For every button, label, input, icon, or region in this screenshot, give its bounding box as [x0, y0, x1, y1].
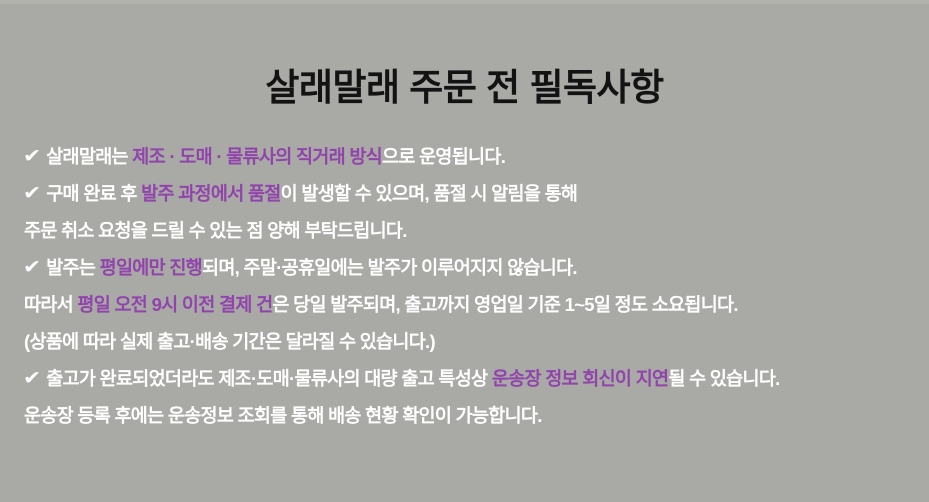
plain-text: 출고가 완료되었더라도 제조·도매·물류사의 대량 출고 특성상 — [46, 368, 492, 389]
check-icon: ✔ — [23, 253, 41, 282]
notice-line: ✔구매 완료 후 발주 과정에서 품절이 발생할 수 있으며, 품절 시 알림을… — [24, 179, 924, 216]
plain-text: 운송장 등록 후에는 운송정보 조회를 통해 배송 현황 확인이 가능합니다. — [24, 405, 542, 426]
plain-text: 되며, 주말·공휴일에는 발주가 이루어지지 않습니다. — [202, 257, 577, 278]
check-icon: ✔ — [23, 364, 41, 393]
plain-text: 구매 완료 후 — [46, 183, 141, 204]
notice-line: 운송장 등록 후에는 운송정보 조회를 통해 배송 현황 확인이 가능합니다. — [24, 401, 924, 438]
plain-text: 살래말래는 — [46, 146, 132, 167]
check-icon: ✔ — [23, 142, 41, 171]
notice-line: ✔발주는 평일에만 진행되며, 주말·공휴일에는 발주가 이루어지지 않습니다. — [24, 253, 924, 290]
highlighted-text: 평일에만 진행 — [100, 257, 202, 278]
plain-text: 으로 운영됩니다. — [382, 146, 505, 167]
notice-line-text: 따라서 평일 오전 9시 이전 결제 건은 당일 발주되며, 출고까지 영업일 … — [24, 290, 738, 319]
plain-text: 될 수 있습니다. — [668, 368, 779, 389]
notice-line-text: 살래말래는 제조 · 도매 · 물류사의 직거래 방식으로 운영됩니다. — [46, 142, 505, 171]
highlighted-text: 제조 · 도매 · 물류사의 직거래 방식 — [132, 146, 382, 167]
notice-line: (상품에 따라 실제 출고·배송 기간은 달라질 수 있습니다.) — [24, 327, 924, 364]
notice-line: 주문 취소 요청을 드릴 수 있는 점 양해 부탁드립니다. — [24, 216, 924, 253]
notice-card: 살래말래 주문 전 필독사항 ✔살래말래는 제조 · 도매 · 물류사의 직거래… — [0, 0, 929, 502]
top-edge-strip — [0, 0, 929, 4]
notice-line-text: 운송장 등록 후에는 운송정보 조회를 통해 배송 현황 확인이 가능합니다. — [24, 401, 542, 430]
notice-line-text: 주문 취소 요청을 드릴 수 있는 점 양해 부탁드립니다. — [24, 216, 407, 245]
plain-text: 은 당일 발주되며, 출고까지 영업일 기준 1~5일 정도 소요됩니다. — [272, 294, 737, 315]
highlighted-text: 운송장 정보 회신이 지연 — [492, 368, 669, 389]
plain-text: 이 발생할 수 있으며, 품절 시 알림을 통해 — [281, 183, 578, 204]
plain-text: 발주는 — [46, 257, 99, 278]
page-title: 살래말래 주문 전 필독사항 — [0, 57, 929, 111]
notice-line: 따라서 평일 오전 9시 이전 결제 건은 당일 발주되며, 출고까지 영업일 … — [24, 290, 924, 327]
plain-text: 주문 취소 요청을 드릴 수 있는 점 양해 부탁드립니다. — [24, 220, 407, 241]
notice-list: ✔살래말래는 제조 · 도매 · 물류사의 직거래 방식으로 운영됩니다.✔구매… — [24, 142, 924, 438]
check-icon: ✔ — [23, 179, 41, 208]
notice-line: ✔출고가 완료되었더라도 제조·도매·물류사의 대량 출고 특성상 운송장 정보… — [24, 364, 924, 401]
highlighted-text: 평일 오전 9시 이전 결제 건 — [77, 294, 272, 315]
notice-line-text: 출고가 완료되었더라도 제조·도매·물류사의 대량 출고 특성상 운송장 정보 … — [46, 364, 779, 393]
plain-text: 따라서 — [24, 294, 77, 315]
notice-line: ✔살래말래는 제조 · 도매 · 물류사의 직거래 방식으로 운영됩니다. — [24, 142, 924, 179]
plain-text: (상품에 따라 실제 출고·배송 기간은 달라질 수 있습니다.) — [24, 331, 435, 352]
notice-line-text: 발주는 평일에만 진행되며, 주말·공휴일에는 발주가 이루어지지 않습니다. — [46, 253, 577, 282]
notice-line-text: (상품에 따라 실제 출고·배송 기간은 달라질 수 있습니다.) — [24, 327, 435, 356]
notice-line-text: 구매 완료 후 발주 과정에서 품절이 발생할 수 있으며, 품절 시 알림을 … — [46, 179, 577, 208]
highlighted-text: 발주 과정에서 품절 — [141, 183, 280, 204]
